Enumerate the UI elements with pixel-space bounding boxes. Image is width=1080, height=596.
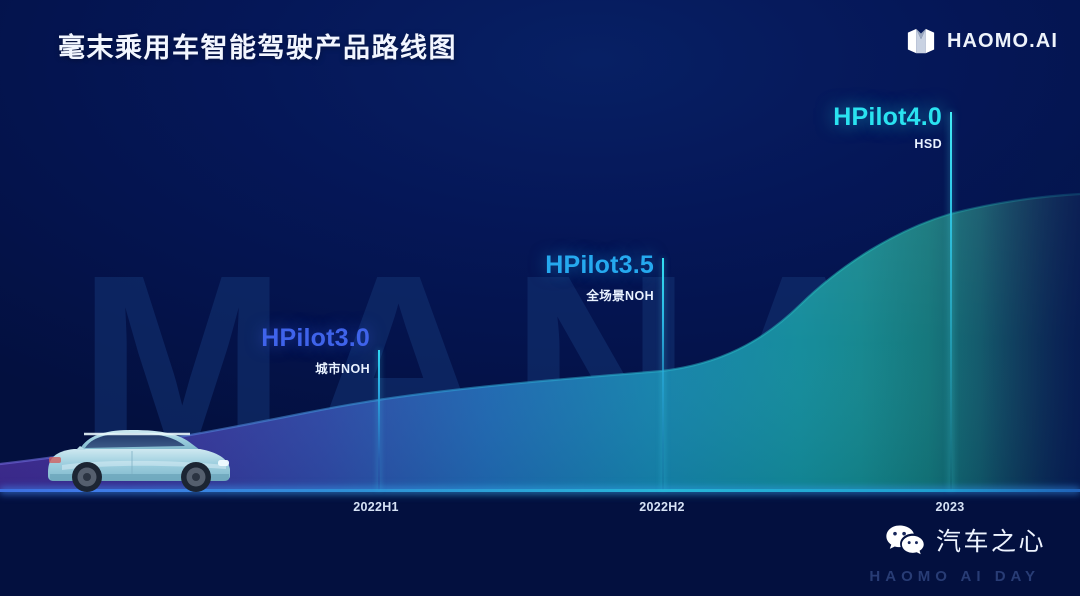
milestone-title-hpilot30: HPilot3.0 (178, 325, 370, 351)
milestone-label-hpilot35: HPilot3.5 全场景NOH (462, 252, 654, 304)
wechat-watermark: 汽车之心 (885, 522, 1046, 558)
milestone-marker-hpilot30 (378, 350, 380, 490)
milestone-title-hpilot35: HPilot3.5 (462, 252, 654, 278)
wechat-account-name: 汽车之心 (936, 522, 1046, 558)
milestone-subtitle-hpilot40: HSD (750, 137, 942, 151)
x-tick-2023: 2023 (935, 500, 964, 514)
x-tick-2022h1: 2022H1 (353, 500, 399, 514)
milestone-subtitle-hpilot30: 城市NOH (178, 358, 370, 377)
haomo-ai-day-text: HAOMO AI DAY (869, 568, 1040, 585)
wechat-icon (885, 523, 925, 557)
right-edge-shade (860, 150, 1080, 492)
roadmap-area-chart (0, 0, 1080, 492)
slide-canvas: MANA (0, 0, 1080, 596)
milestone-title-hpilot40: HPilot4.0 (750, 104, 942, 130)
suv-car-icon (40, 424, 236, 492)
brand-logo: HAOMO.AI (906, 26, 1058, 56)
milestone-subtitle-hpilot35: 全场景NOH (462, 285, 654, 304)
page-title: 毫末乘用车智能驾驶产品路线图 (58, 26, 457, 65)
x-tick-2022h2: 2022H2 (639, 500, 685, 514)
area-curve-svg (0, 0, 1080, 492)
haomo-m-logo-icon (906, 26, 936, 56)
brand-name: HAOMO.AI (947, 30, 1058, 53)
milestone-label-hpilot40: HPilot4.0 HSD (750, 104, 942, 151)
milestone-marker-hpilot40 (950, 112, 952, 490)
milestone-marker-hpilot35 (662, 258, 664, 490)
milestone-label-hpilot30: HPilot3.0 城市NOH (178, 325, 370, 377)
